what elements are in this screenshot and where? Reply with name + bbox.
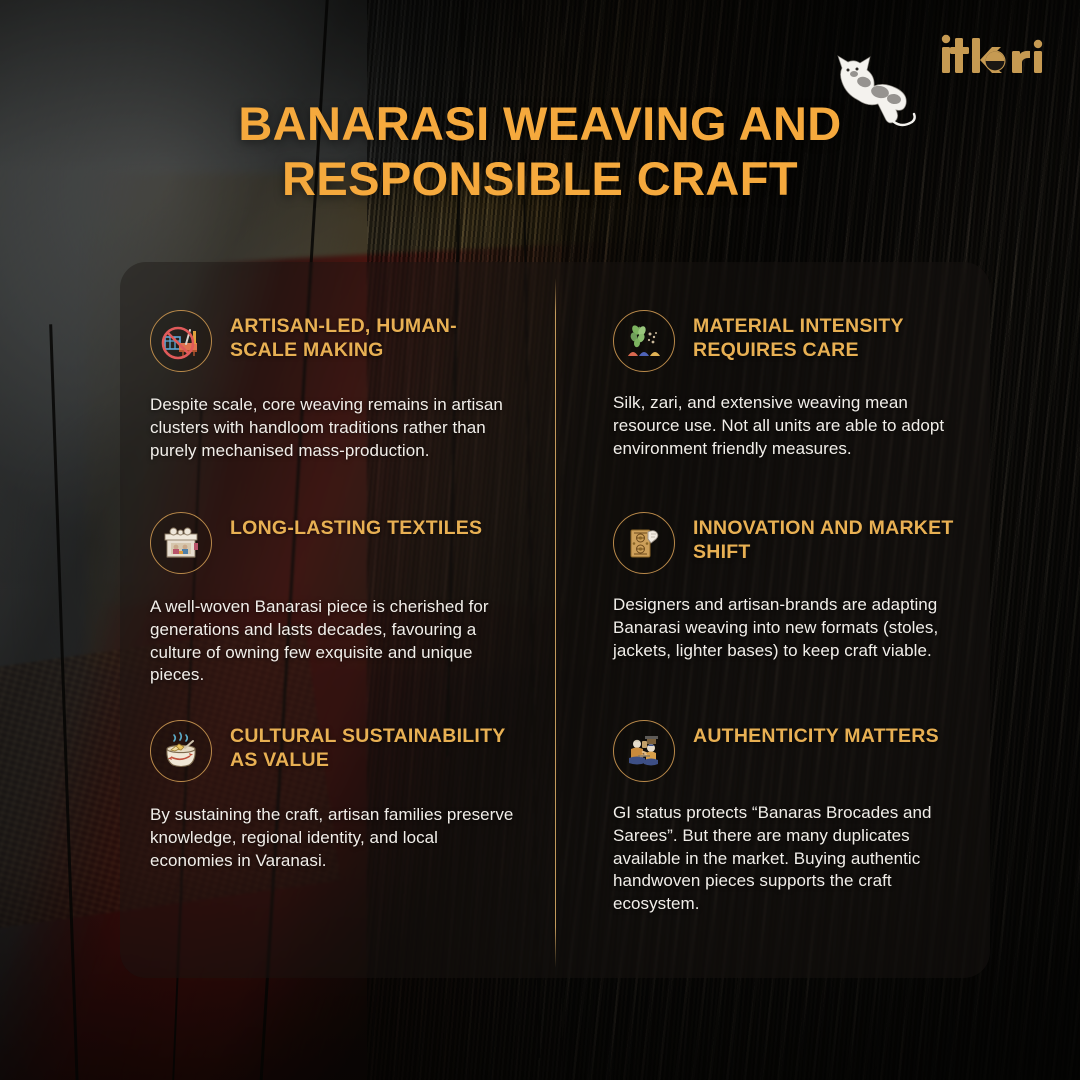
artisan-shopfront-icon bbox=[150, 512, 212, 574]
card-title: LONG-LASTING TEXTILES bbox=[230, 512, 482, 541]
page-title: BANARASI WEAVING AND RESPONSIBLE CRAFT bbox=[0, 96, 1080, 207]
infographic-poster: itokri BANARASI WEAVING AND RESPONSIBLE … bbox=[0, 0, 1080, 1080]
title-line-2: RESPONSIBLE CRAFT bbox=[120, 151, 960, 206]
card-body: By sustaining the craft, artisan familie… bbox=[150, 804, 521, 872]
card-title: MATERIAL INTENSITY REQUIRES CARE bbox=[693, 310, 966, 363]
card-title: ARTISAN-LED, HUMAN-SCALE MAKING bbox=[230, 310, 521, 363]
title-line-1: BANARASI WEAVING AND bbox=[238, 97, 841, 150]
two-seated-artisans-icon bbox=[613, 720, 675, 782]
card-header: CULTURAL SUSTAINABILITY AS VALUE bbox=[150, 720, 521, 782]
card-long-lasting-textiles: LONG-LASTING TEXTILES A well-woven Banar… bbox=[120, 464, 555, 672]
card-header: AUTHENTICITY MATTERS bbox=[613, 720, 966, 782]
card-body: GI status protects “Banaras Brocades and… bbox=[613, 802, 966, 916]
itokri-wordmark bbox=[940, 34, 1046, 78]
card-body: Silk, zari, and extensive weaving mean r… bbox=[613, 392, 966, 460]
card-authenticity-matters: AUTHENTICITY MATTERS GI status protects … bbox=[555, 672, 990, 978]
steaming-dye-pot-icon bbox=[150, 720, 212, 782]
card-artisan-led: ARTISAN-LED, HUMAN-SCALE MAKING Despite … bbox=[120, 262, 555, 464]
card-header: LONG-LASTING TEXTILES bbox=[150, 512, 521, 574]
no-machine-loom-icon bbox=[150, 310, 212, 372]
card-body: Despite scale, core weaving remains in a… bbox=[150, 394, 521, 462]
card-title: AUTHENTICITY MATTERS bbox=[693, 720, 939, 749]
card-cultural-sustainability: CULTURAL SUSTAINABILITY AS VALUE By sust… bbox=[120, 672, 555, 978]
card-header: ARTISAN-LED, HUMAN-SCALE MAKING bbox=[150, 310, 521, 372]
card-header: INNOVATION AND MARKET SHIFT bbox=[613, 512, 966, 574]
card-title: CULTURAL SUSTAINABILITY AS VALUE bbox=[230, 720, 521, 773]
hand-holding-brocade-swatch-icon bbox=[613, 512, 675, 574]
card-innovation-market-shift: INNOVATION AND MARKET SHIFT Designers an… bbox=[555, 464, 990, 672]
card-title: INNOVATION AND MARKET SHIFT bbox=[693, 512, 966, 565]
card-body: Designers and artisan-brands are adaptin… bbox=[613, 594, 966, 662]
leaves-and-dye-powders-icon bbox=[613, 310, 675, 372]
brand-logo[interactable]: itokri bbox=[940, 34, 1046, 78]
card-header: MATERIAL INTENSITY REQUIRES CARE bbox=[613, 310, 966, 372]
cards-grid: ARTISAN-LED, HUMAN-SCALE MAKING Despite … bbox=[120, 262, 990, 978]
card-material-intensity: MATERIAL INTENSITY REQUIRES CARE Silk, z… bbox=[555, 262, 990, 464]
